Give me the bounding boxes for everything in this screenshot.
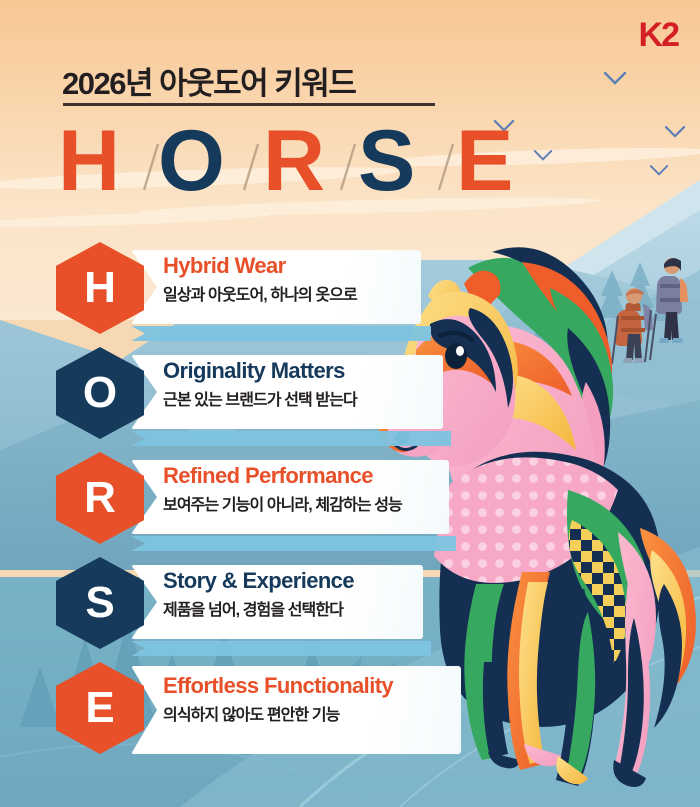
svg-text:O: O (83, 368, 117, 417)
row-title-en: Refined Performance (163, 464, 402, 487)
row-subtitle-ko: 근본 있는 브랜드가 선택 받는다 (163, 386, 357, 410)
acronym-separator (341, 144, 355, 190)
k2-logo: K2 (639, 18, 678, 52)
badge-letter-e: E (73, 681, 127, 735)
row-underbar (131, 641, 431, 656)
row-underbar (131, 536, 456, 551)
page-title: 2026년 아웃도어 키워드 (62, 58, 355, 103)
acronym-separator (144, 144, 158, 190)
row-title-en: Effortless Functionality (163, 674, 393, 697)
row-subtitle-ko: 일상과 아웃도어, 하나의 옷으로 (163, 281, 357, 305)
badge-letter-o: O (73, 366, 127, 420)
row-title-en: Hybrid Wear (163, 254, 357, 277)
row-underbar (131, 431, 451, 446)
acronym-letter-h: H (58, 120, 120, 200)
list-item[interactable]: S Story & Experience 제품을 넘어, 경험을 선택한다 (0, 551, 700, 656)
hex-badge-h[interactable]: H (56, 242, 144, 334)
row-subtitle-ko: 제품을 넘어, 경험을 선택한다 (163, 596, 354, 620)
bird-icon (665, 126, 685, 139)
acronym-letter-s: S (358, 120, 415, 200)
svg-text:H: H (84, 263, 116, 312)
list-item[interactable]: E Effortless Functionality 의식하지 않아도 편안한 … (0, 656, 700, 761)
bird-icon (650, 165, 668, 177)
row-subtitle-ko: 보여주는 기능이 아니라, 체감하는 성능 (163, 491, 402, 515)
list-item[interactable]: H Hybrid Wear 일상과 아웃도어, 하나의 옷으로 (0, 236, 700, 341)
row-text: Originality Matters 근본 있는 브랜드가 선택 받는다 (163, 359, 357, 410)
svg-text:E: E (85, 683, 114, 732)
row-text: Refined Performance 보여주는 기능이 아니라, 체감하는 성… (163, 464, 402, 515)
acronym-letter-o: O (158, 120, 225, 200)
row-title-en: Story & Experience (163, 569, 354, 592)
hex-badge-r[interactable]: R (56, 452, 144, 544)
row-underbar (131, 326, 431, 341)
row-text: Effortless Functionality 의식하지 않아도 편안한 기능 (163, 674, 393, 725)
list-item[interactable]: O Originality Matters 근본 있는 브랜드가 선택 받는다 (0, 341, 700, 446)
acronym-letter-e: E (456, 120, 513, 200)
horse-acronym-wordmark: H O R S E (58, 120, 538, 200)
bird-icon (604, 72, 626, 86)
acronym-separator (244, 144, 258, 190)
svg-text:S: S (85, 578, 114, 627)
hex-badge-o[interactable]: O (56, 347, 144, 439)
list-item[interactable]: R Refined Performance 보여주는 기능이 아니라, 체감하는… (0, 446, 700, 551)
hex-badge-e[interactable]: E (56, 662, 144, 754)
hex-badge-s[interactable]: S (56, 557, 144, 649)
badge-letter-r: R (73, 471, 127, 525)
row-text: Hybrid Wear 일상과 아웃도어, 하나의 옷으로 (163, 254, 357, 305)
title-underline (63, 103, 435, 106)
infographic-poster: K2 2026년 아웃도어 키워드 H O R S E H Hybr (0, 0, 700, 807)
badge-letter-s: S (73, 576, 127, 630)
row-subtitle-ko: 의식하지 않아도 편안한 기능 (163, 701, 393, 725)
keyword-list: H Hybrid Wear 일상과 아웃도어, 하나의 옷으로 O Origin… (0, 236, 700, 761)
row-text: Story & Experience 제품을 넘어, 경험을 선택한다 (163, 569, 354, 620)
row-title-en: Originality Matters (163, 359, 357, 382)
badge-letter-h: H (73, 261, 127, 315)
acronym-separator (439, 144, 453, 190)
svg-text:R: R (84, 473, 116, 522)
acronym-letter-r: R (263, 120, 325, 200)
